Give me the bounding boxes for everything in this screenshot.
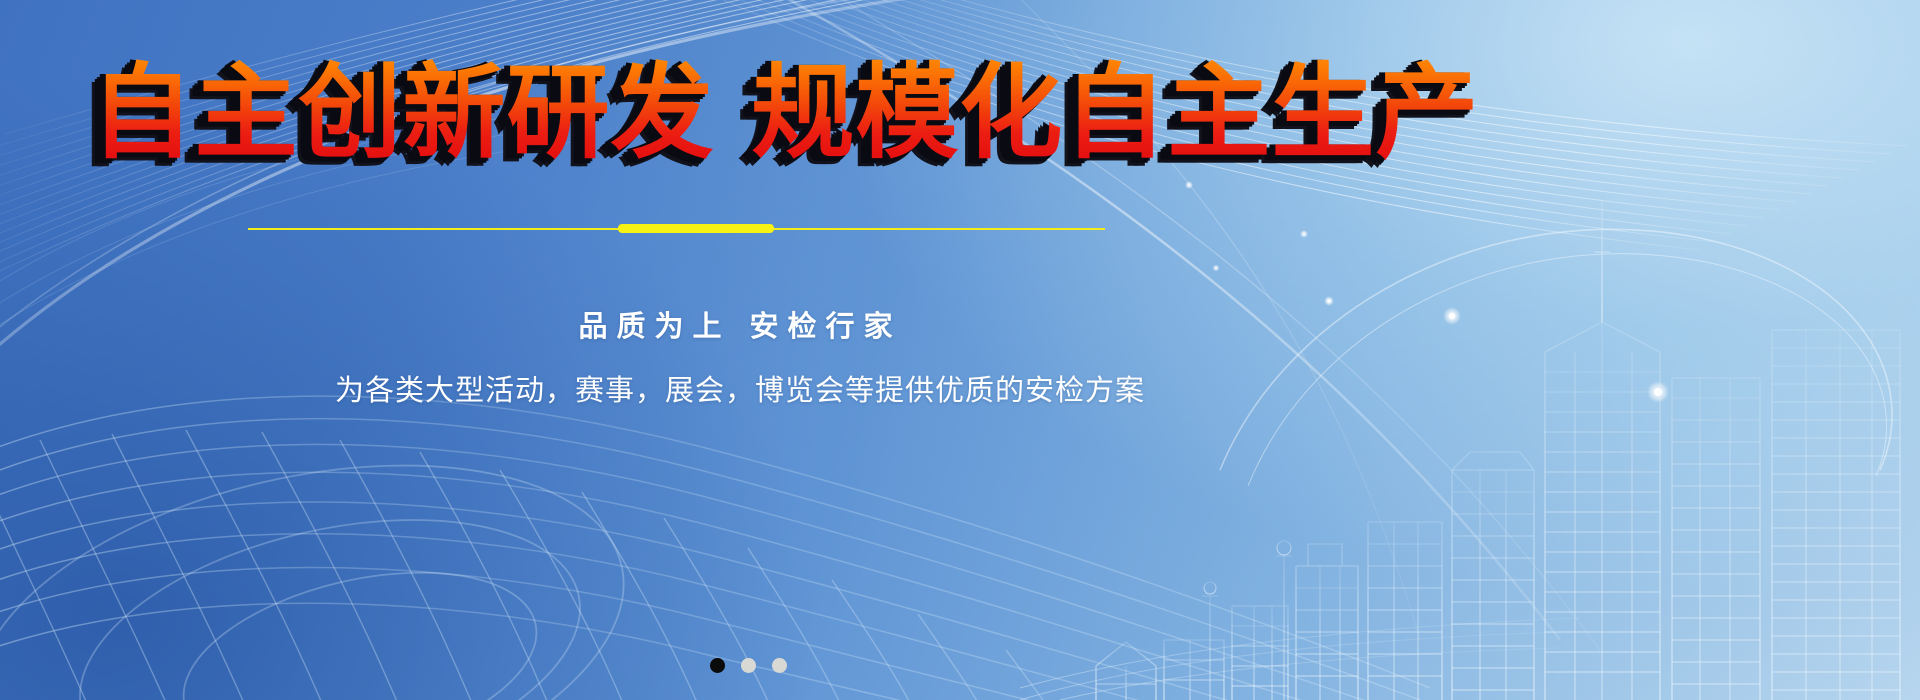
banner-headline: 自主创新研发 规模化自主生产 <box>91 56 1480 171</box>
banner-subtitle-secondary: 为各类大型活动，赛事，展会，博览会等提供优质的安检方案 <box>0 369 1480 411</box>
carousel-dot-1[interactable] <box>710 658 725 673</box>
carousel-indicators[interactable] <box>0 658 1496 673</box>
hero-banner: 自主创新研发 规模化自主生产 品质为上 安检行家 为各类大型活动，赛事，展会，博… <box>0 0 1920 700</box>
subtitle-container: 品质为上 安检行家 为各类大型活动，赛事，展会，博览会等提供优质的安检方案 <box>0 306 1480 411</box>
carousel-dot-3[interactable] <box>772 658 787 673</box>
carousel-dot-2[interactable] <box>741 658 756 673</box>
divider-highlight-bar <box>618 224 774 233</box>
headline-container: 自主创新研发 规模化自主生产 <box>0 56 1570 171</box>
banner-subtitle-primary: 品质为上 安检行家 <box>0 306 1480 347</box>
yellow-divider <box>248 222 1105 236</box>
